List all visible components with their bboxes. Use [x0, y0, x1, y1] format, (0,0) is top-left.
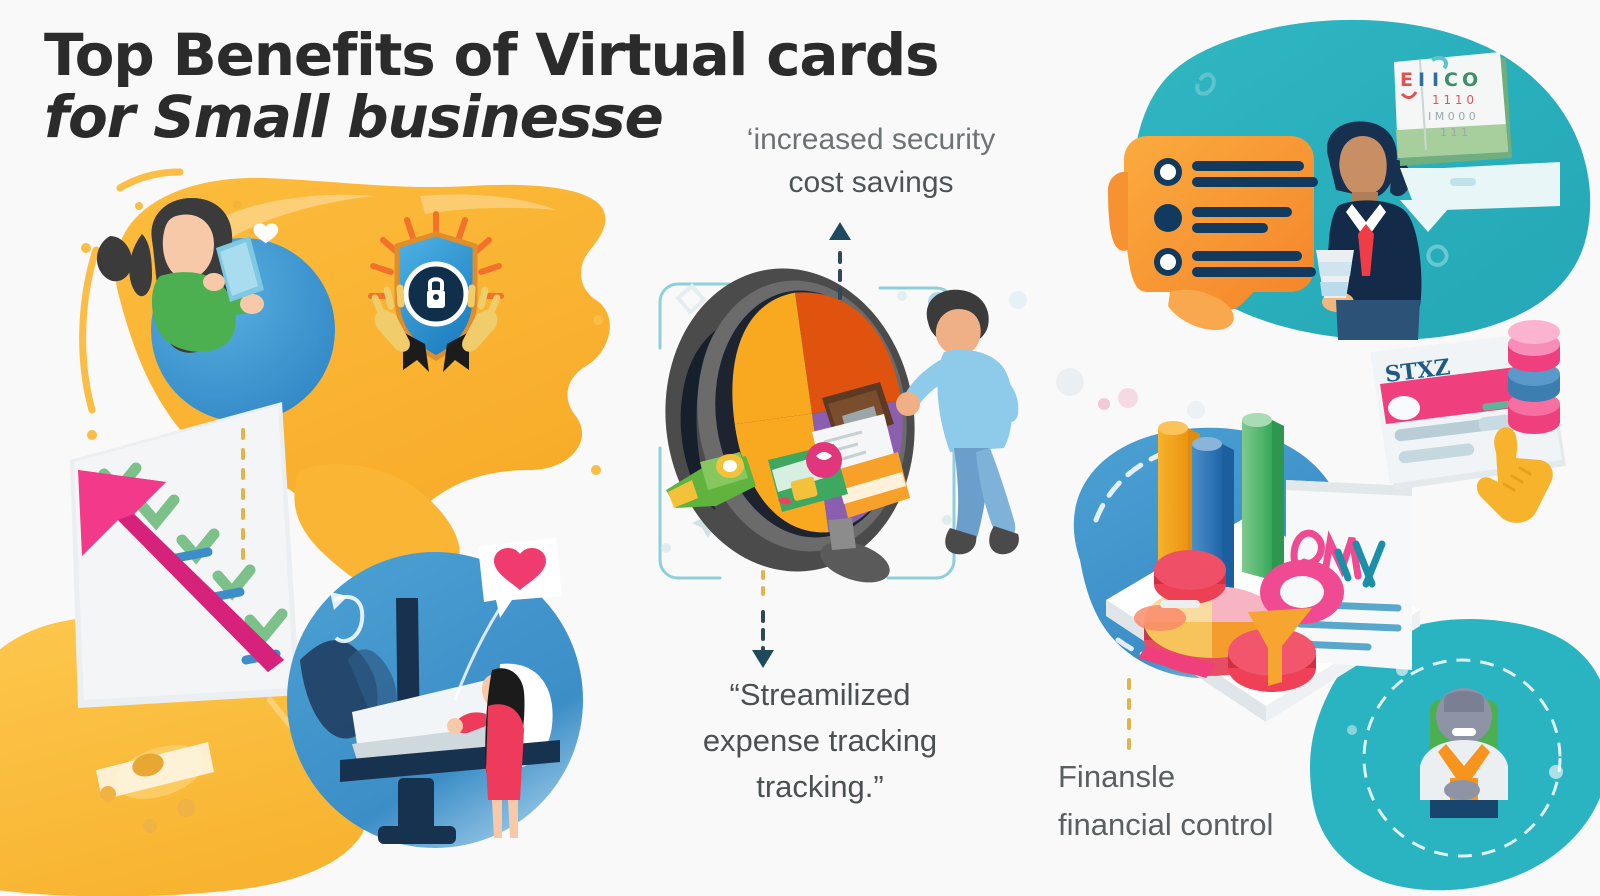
security-shield-scene — [97, 198, 501, 422]
caption-tracking-line-3: tracking.” — [650, 764, 990, 810]
svg-text:I: I — [1432, 69, 1439, 91]
download-arrow — [1400, 162, 1560, 232]
caption-security-line-2: cost savings — [706, 161, 1036, 204]
svg-text:1 1 1 0: 1 1 1 0 — [1432, 93, 1474, 107]
infographic-canvas: E I I C O 1 1 1 0 I M 0 0 0 1 1 1 — [0, 0, 1600, 896]
caption-expense-tracking: “Streamilized expense tracking tracking.… — [650, 672, 990, 810]
caption-increased-security: ‘increased security cost savings — [706, 118, 1036, 204]
financial-dashboard-scene: STXZ — [1106, 320, 1566, 818]
svg-text:I M 0 0 0: I M 0 0 0 — [1428, 110, 1476, 123]
megaphone-circle — [287, 538, 583, 848]
dashed-arrow-down — [752, 612, 774, 668]
caption-tracking-line-1: “Streamilized — [650, 672, 990, 718]
svg-text:E: E — [1400, 69, 1413, 91]
svg-text:1 1 1: 1 1 1 — [1440, 126, 1468, 139]
shield-lock-badge — [371, 214, 501, 372]
growth-arrow-card — [70, 402, 300, 708]
report-document: E I I C O 1 1 1 0 I M 0 0 0 1 1 1 — [1394, 52, 1512, 166]
svg-text:C: C — [1444, 69, 1458, 91]
coin-stack — [1508, 320, 1560, 434]
svg-text:O: O — [1462, 69, 1478, 91]
checklist-businesswoman-scene: E I I C O 1 1 1 0 I M 0 0 0 1 1 1 — [1108, 52, 1560, 340]
caption-financial-line-1: Finansle — [1058, 753, 1388, 801]
growth-megaphone-scene — [70, 402, 583, 848]
avatar-person — [1420, 688, 1508, 818]
caption-tracking-line-2: expense tracking — [650, 718, 990, 764]
caption-security-line-1: ‘increased security — [706, 118, 1036, 161]
caption-financial-control: Finansle financial control — [1058, 753, 1388, 849]
title-line-1: Top Benefits of Virtual cards — [44, 24, 944, 86]
orange-checklist-card — [1108, 136, 1318, 330]
expense-drum-scene — [646, 252, 1019, 590]
svg-text:I: I — [1418, 69, 1425, 91]
caption-financial-line-2: financial control — [1058, 801, 1388, 849]
